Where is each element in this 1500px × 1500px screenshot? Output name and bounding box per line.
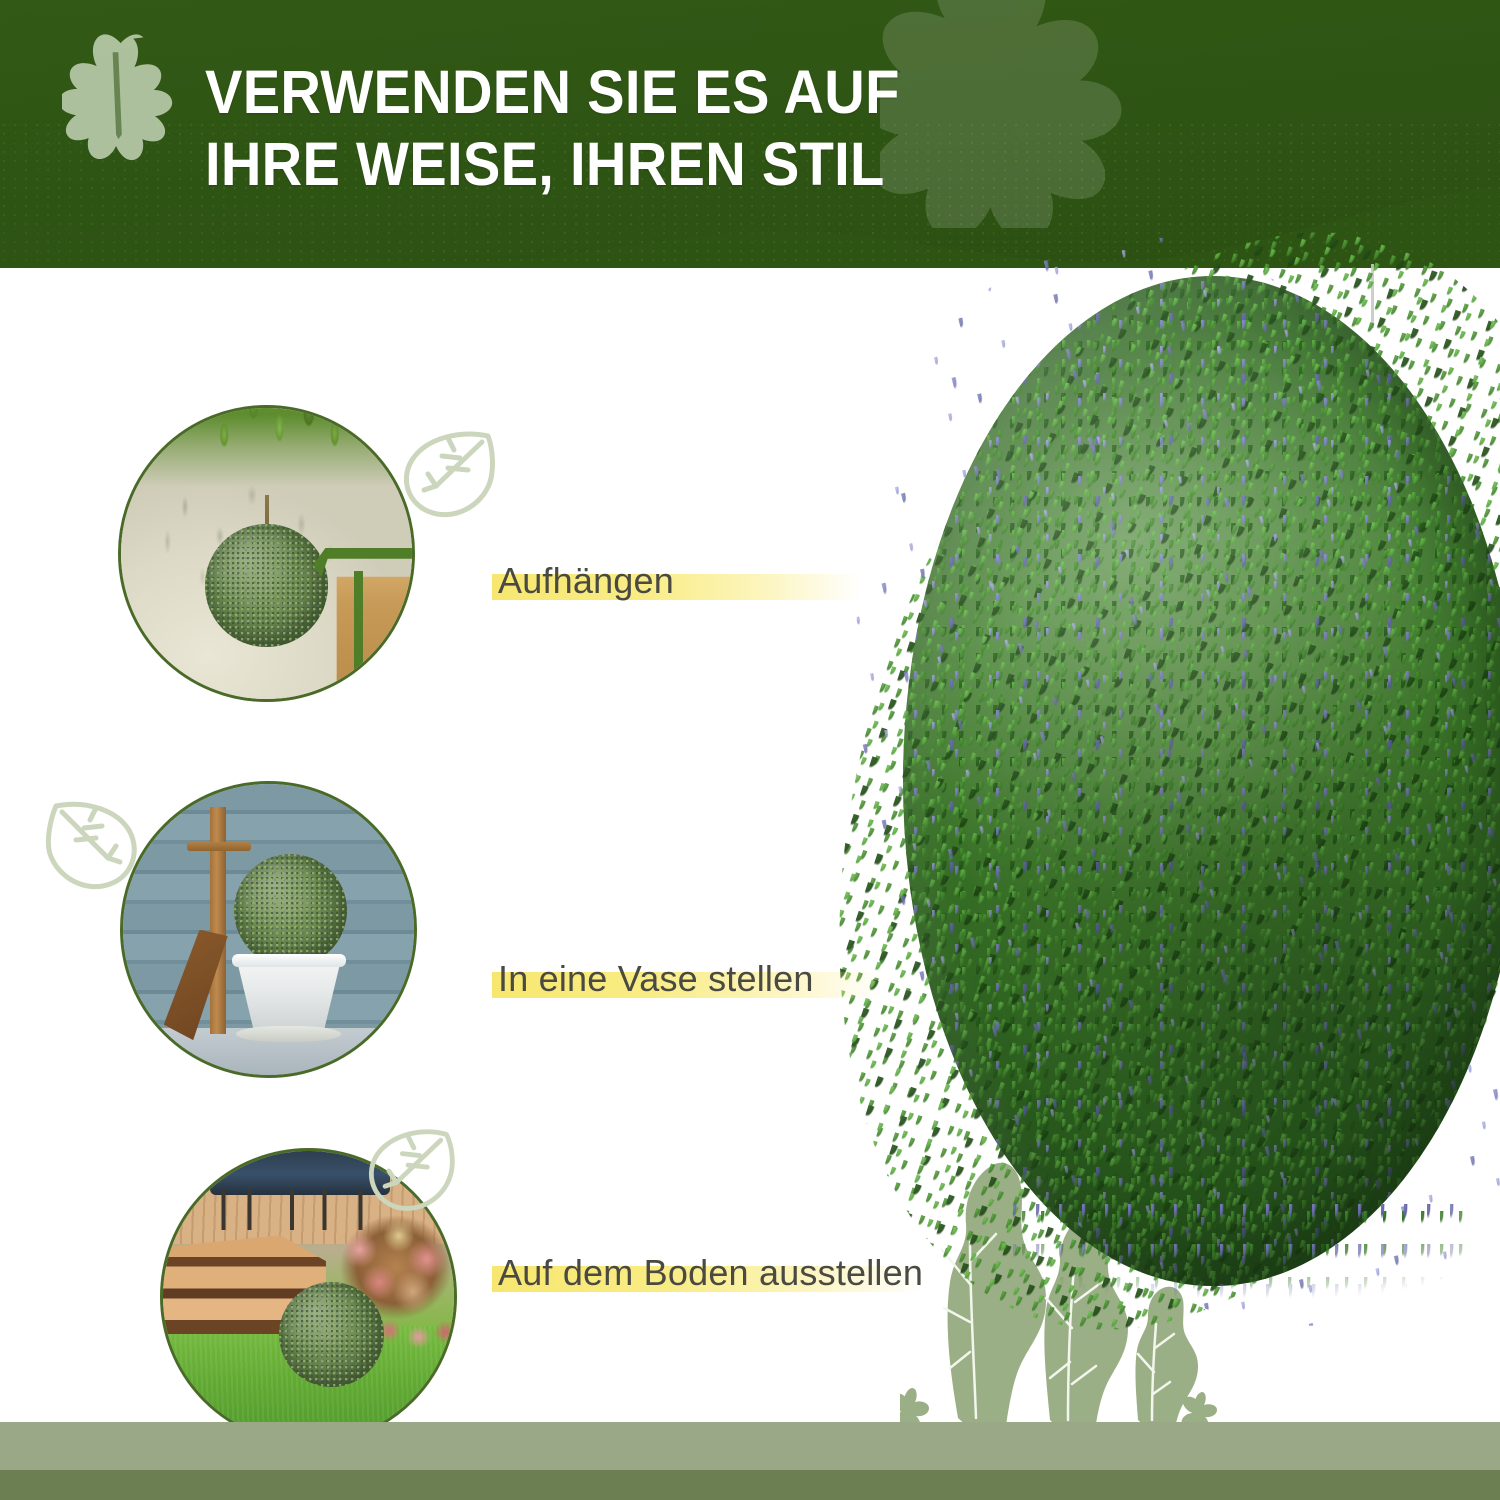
outline-leaf-icon (398, 428, 498, 520)
product-image-lavender-ball (893, 258, 1500, 1318)
patio-chair-legs (215, 1189, 378, 1230)
feature-label-hanging: Aufhängen (498, 560, 674, 602)
pot-rim (232, 954, 345, 967)
shed-edge (354, 571, 363, 702)
feature-label-ground: Auf dem Boden ausstellen (498, 1252, 923, 1294)
feature-photo-potted (120, 781, 417, 1078)
monstera-leaf-icon (62, 34, 177, 162)
feature-label-text: Aufhängen (498, 560, 674, 601)
outline-leaf-icon (362, 1124, 458, 1214)
topiary-ball (205, 524, 327, 646)
ball-edge-sprigs (879, 244, 1500, 1282)
ball-bottom-sprigs (1013, 1204, 1463, 1324)
header-banner: VERWENDEN SIE ES AUF IHRE WEISE, IHREN S… (0, 0, 1500, 268)
feature-label-potted: In eine Vase stellen (498, 958, 814, 1000)
page-title: VERWENDEN SIE ES AUF IHRE WEISE, IHREN S… (205, 56, 996, 200)
outline-leaf-icon (42, 800, 142, 892)
feature-photo-hanging (118, 405, 415, 702)
product-infographic: VERWENDEN SIE ES AUF IHRE WEISE, IHREN S… (0, 0, 1500, 1500)
topiary-ball (279, 1282, 384, 1387)
footer-bar-olive (0, 1470, 1500, 1500)
footer-bar-sage (0, 1422, 1500, 1470)
feature-label-text: In eine Vase stellen (498, 958, 814, 999)
topiary-ball (234, 854, 347, 967)
wooden-arm (187, 842, 251, 851)
feature-label-text: Auf dem Boden ausstellen (498, 1252, 923, 1293)
white-planter-pot (236, 959, 341, 1029)
pot-saucer (236, 1026, 341, 1042)
